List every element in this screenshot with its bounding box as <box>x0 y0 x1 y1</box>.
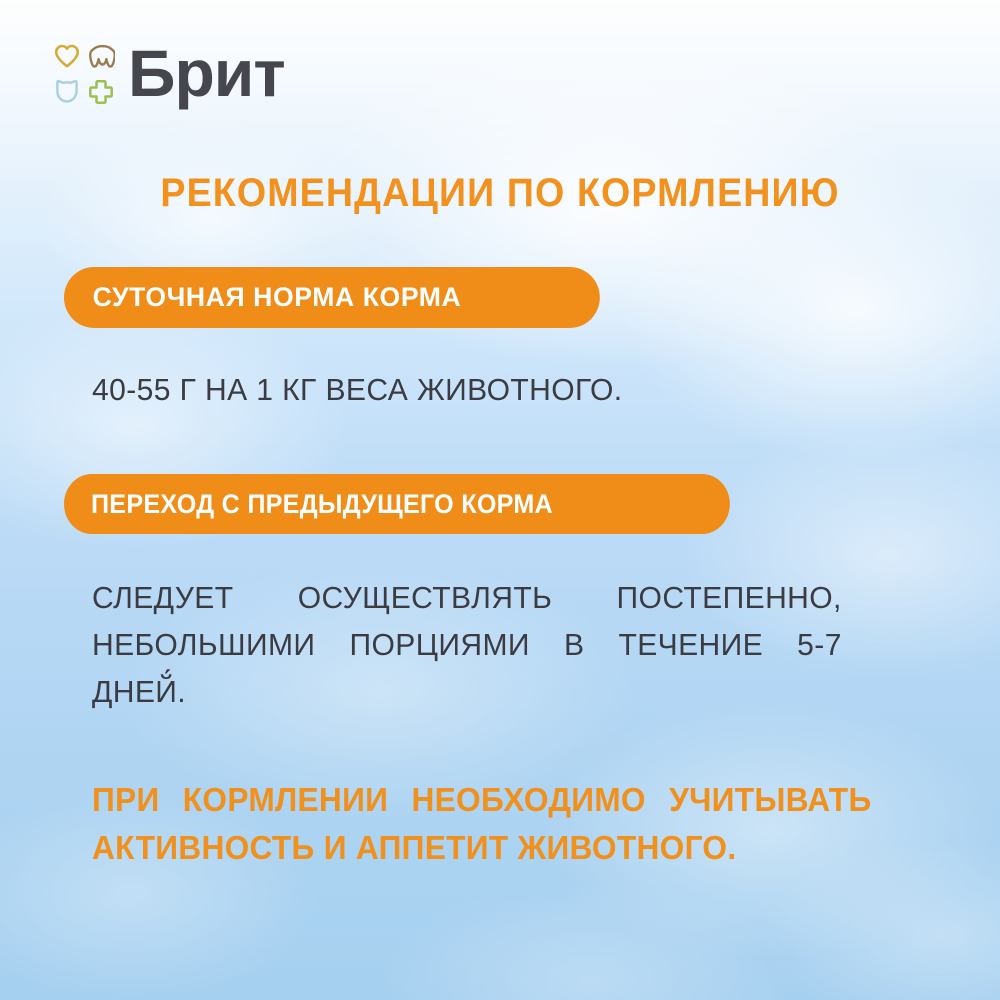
cat-face-icon <box>54 79 80 105</box>
brand-logo-marks <box>50 38 118 110</box>
feeding-note-text: ПРИ КОРМЛЕНИИ НЕОБХОДИМО УЧИТЫВАТЬ АКТИВ… <box>92 776 872 872</box>
slide-canvas: Брит РЕКОМЕНДАЦИИ ПО КОРМЛЕНИЮ СУТОЧНАЯ … <box>0 0 1000 1000</box>
dog-ears-icon <box>88 44 115 69</box>
medical-cross-icon <box>88 79 114 105</box>
food-transition-text: СЛЕДУЕТ ОСУЩЕСТВЛЯТЬ ПОСТЕПЕННО, НЕБОЛЬШ… <box>92 574 842 715</box>
heart-icon <box>54 44 80 68</box>
brand-wordmark: Брит <box>128 40 285 106</box>
page-title: РЕКОМЕНДАЦИИ ПО КОРМЛЕНИЮ <box>30 170 970 216</box>
daily-norm-text: 40-55 Г НА 1 КГ ВЕСА ЖИВОТНОГО. <box>92 368 858 412</box>
section-badge-daily-norm: СУТОЧНАЯ НОРМА КОРМА <box>64 267 600 328</box>
brand-logo: Брит <box>50 38 285 110</box>
section-badge-food-transition: ПЕРЕХОД С ПРЕДЫДУЩЕГО КОРМА <box>64 474 730 534</box>
